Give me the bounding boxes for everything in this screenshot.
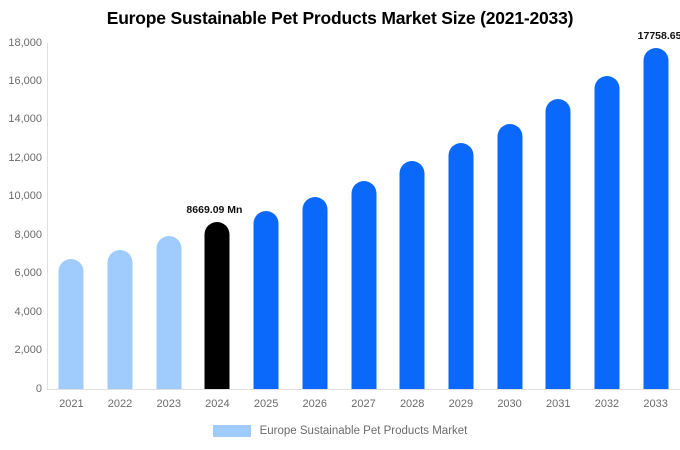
x-axis-tick-2028: 2028 xyxy=(390,398,434,410)
x-axis-tick-2032: 2032 xyxy=(585,398,629,410)
chart-title: Europe Sustainable Pet Products Market S… xyxy=(0,8,680,29)
x-axis-tick-2027: 2027 xyxy=(342,398,386,410)
bar-2026[interactable] xyxy=(302,197,327,389)
bar-2032[interactable] xyxy=(594,76,619,389)
bar-2024[interactable] xyxy=(205,222,230,389)
y-axis-tick: 4,000 xyxy=(0,307,42,318)
x-axis-tick-2030: 2030 xyxy=(488,398,532,410)
y-axis-tick: 14,000 xyxy=(0,114,42,125)
chart-legend: Europe Sustainable Pet Products Market xyxy=(0,425,680,437)
bar-2022[interactable] xyxy=(108,250,133,389)
bar-slot xyxy=(342,43,386,389)
bar-slot xyxy=(293,43,337,389)
x-axis-tick-2024: 2024 xyxy=(195,398,239,410)
x-axis-tick-2023: 2023 xyxy=(147,398,191,410)
bar-slot xyxy=(536,43,580,389)
bar-slot xyxy=(585,43,629,389)
x-axis-line xyxy=(47,389,680,390)
y-axis-tick-labels: 18,00016,00014,00012,00010,0008,0006,000… xyxy=(0,0,42,450)
bar-2033[interactable] xyxy=(643,48,668,389)
bar-2025[interactable] xyxy=(254,211,279,389)
bar-2021[interactable] xyxy=(59,259,84,389)
y-axis-tick: 0 xyxy=(0,384,42,395)
bar-slot xyxy=(147,43,191,389)
bar-slot xyxy=(390,43,434,389)
y-axis-tick: 2,000 xyxy=(0,345,42,356)
x-axis-tick-2031: 2031 xyxy=(536,398,580,410)
y-axis-tick: 18,000 xyxy=(0,38,42,49)
x-axis-tick-2021: 2021 xyxy=(49,398,93,410)
legend-item-label: Europe Sustainable Pet Products Market xyxy=(260,425,468,437)
bar-2028[interactable] xyxy=(400,161,425,389)
legend-color-swatch xyxy=(213,425,251,437)
y-axis-tick: 8,000 xyxy=(0,230,42,241)
y-axis-tick: 6,000 xyxy=(0,268,42,279)
bar-2023[interactable] xyxy=(156,236,181,389)
bar-slot xyxy=(98,43,142,389)
x-axis-tick-2026: 2026 xyxy=(293,398,337,410)
bar-slot xyxy=(634,43,678,389)
plot-area: 8669.09 Mn17758.65 M xyxy=(47,43,680,389)
legend-item[interactable]: Europe Sustainable Pet Products Market xyxy=(213,425,468,437)
bar-slot xyxy=(244,43,288,389)
bar-2029[interactable] xyxy=(448,143,473,389)
y-axis-tick: 16,000 xyxy=(0,76,42,87)
bar-2030[interactable] xyxy=(497,124,522,389)
x-axis-tick-2029: 2029 xyxy=(439,398,483,410)
bar-chart: Europe Sustainable Pet Products Market S… xyxy=(0,0,680,450)
bar-slot xyxy=(488,43,532,389)
y-axis-tick: 10,000 xyxy=(0,191,42,202)
bar-2031[interactable] xyxy=(546,99,571,389)
y-axis-tick: 12,000 xyxy=(0,153,42,164)
x-axis-tick-2025: 2025 xyxy=(244,398,288,410)
x-axis-tick-2033: 2033 xyxy=(634,398,678,410)
bar-value-label-2024: 8669.09 Mn xyxy=(186,205,242,216)
bar-2027[interactable] xyxy=(351,181,376,389)
bars-layer xyxy=(47,43,680,389)
bar-value-label-2033: 17758.65 M xyxy=(638,31,680,42)
bar-slot xyxy=(49,43,93,389)
x-axis-tick-2022: 2022 xyxy=(98,398,142,410)
bar-slot xyxy=(439,43,483,389)
x-axis-tick-labels: 2021202220232024202520262027202820292030… xyxy=(47,398,680,414)
